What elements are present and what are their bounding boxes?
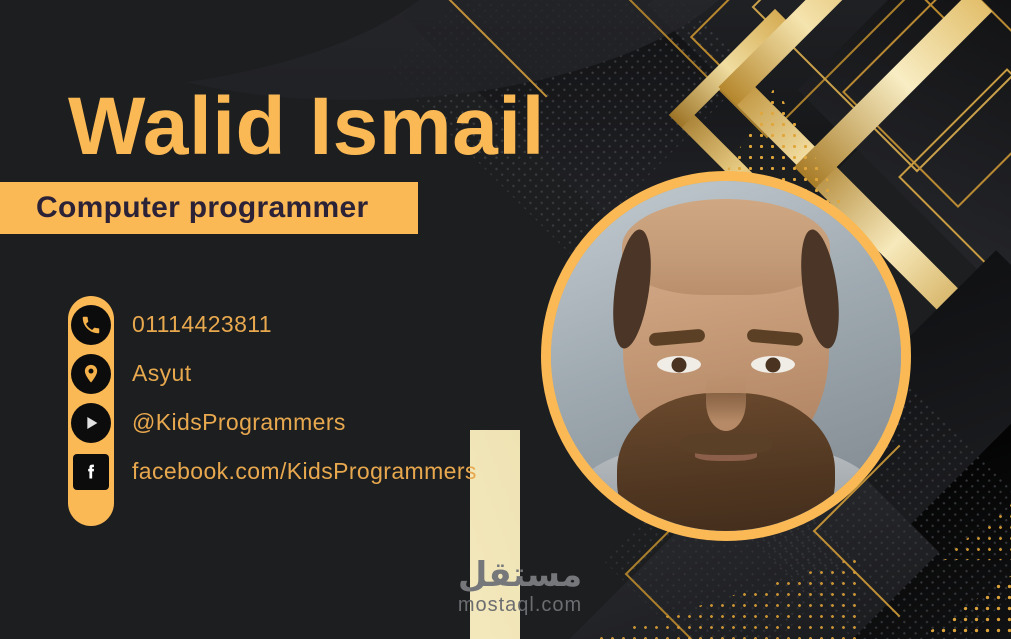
phone-icon [71,305,111,345]
watermark: مستقل mostaql.com [430,558,610,617]
portrait-moustache [680,433,772,455]
phone-value: 01114423811 [132,311,272,338]
watermark-latin: mostaql.com [430,594,610,617]
portrait-hair [622,199,830,295]
facebook-icon [73,454,109,490]
location-pin-icon [71,354,111,394]
avatar [541,171,911,541]
portrait-eye-left [657,356,701,373]
portrait-nose [706,373,746,431]
job-title-label: Computer programmer [36,191,368,225]
business-card: Walid Ismail Computer programmer 0111442… [0,0,1011,639]
job-title-bar: Computer programmer [0,182,418,234]
youtube-handle-value: @KidsProgrammers [132,409,346,436]
location-value: Asyut [132,360,192,387]
person-name: Walid Ismail [68,86,545,168]
portrait-photo [551,181,901,531]
portrait-eye-right [751,356,795,373]
facebook-url-value: facebook.com/KidsProgrammers [132,458,477,485]
watermark-arabic: مستقل [430,558,610,592]
play-icon [71,403,111,443]
